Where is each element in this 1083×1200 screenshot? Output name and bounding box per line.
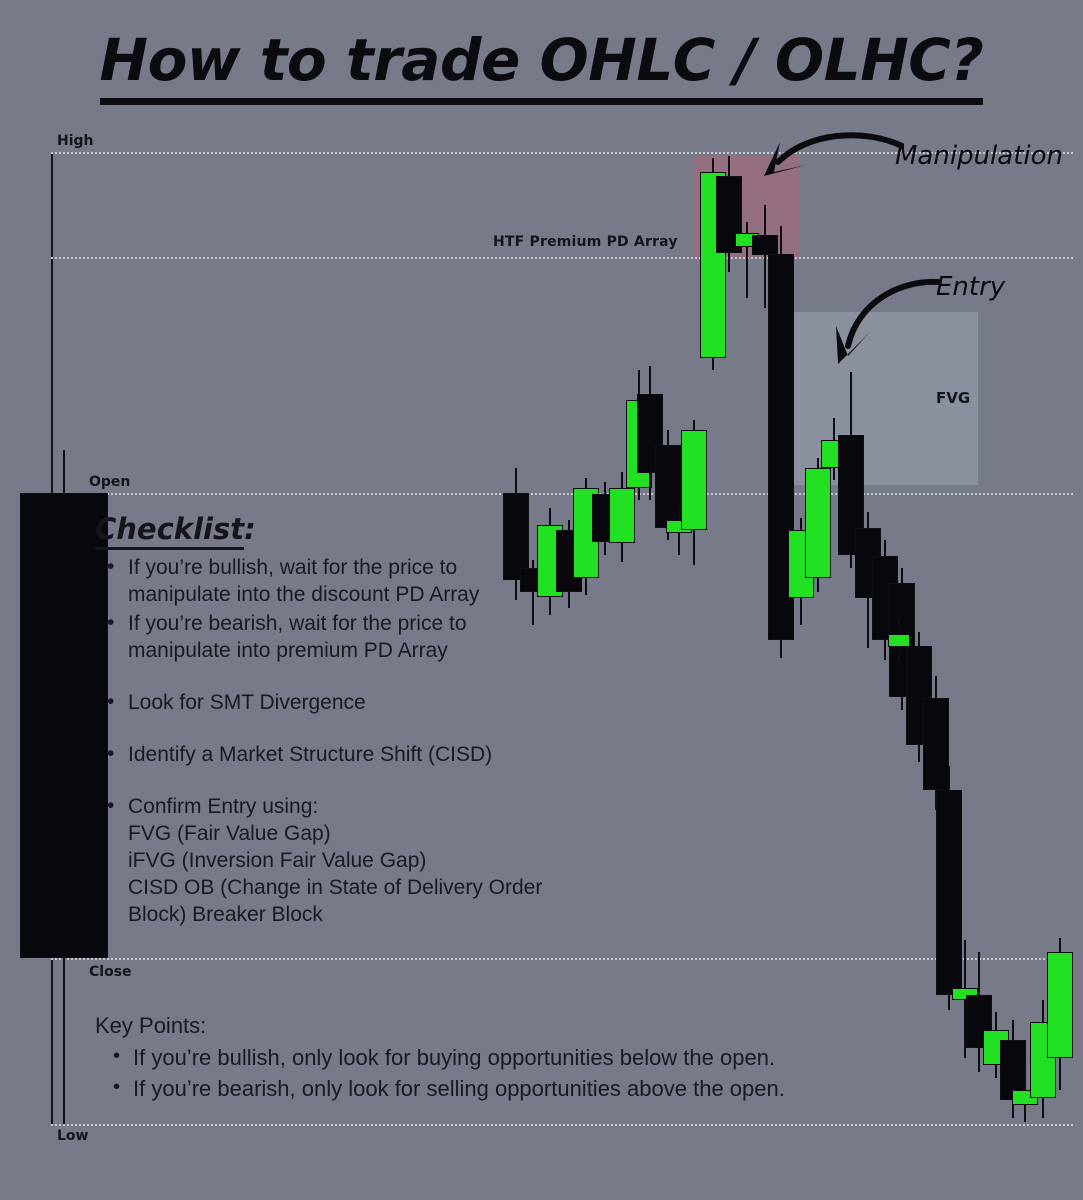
checklist-title: Checklist: (95, 512, 565, 546)
confirm-entry-line: CISD OB (Change in State of Delivery Ord… (128, 874, 565, 928)
checklist-item: If you’re bullish, wait for the price to… (95, 554, 565, 608)
key-points-items: If you’re bullish, only look for buying … (95, 1042, 925, 1104)
infographic-root: How to trade OHLC / OLHC? High Open Clos… (0, 0, 1083, 1200)
candle-body (805, 468, 831, 578)
candle-body (936, 790, 962, 995)
axis-label-low: Low (57, 1128, 88, 1144)
checklist-item-confirm-entry: Confirm Entry using: FVG (Fair Value Gap… (95, 793, 565, 928)
checklist-panel: Checklist: If you’re bullish, wait for t… (95, 512, 565, 930)
axis-label-open: Open (89, 474, 130, 490)
confirm-entry-line: iFVG (Inversion Fair Value Gap) (128, 847, 565, 874)
candle-body (681, 430, 707, 530)
candle-body (752, 235, 778, 255)
entry-label: Entry (936, 272, 1005, 302)
checklist-items: If you’re bullish, wait for the price to… (95, 554, 565, 928)
key-points-item: If you’re bullish, only look for buying … (95, 1042, 925, 1073)
candle-body (609, 488, 635, 543)
checklist-item: Identify a Market Structure Shift (CISD) (95, 741, 565, 768)
gridline-low (51, 1124, 1073, 1126)
candle-body (1047, 952, 1073, 1058)
confirm-entry-heading: Confirm Entry using: (128, 793, 565, 820)
candle-wick (764, 205, 766, 308)
gridline-htf (51, 257, 1073, 259)
key-points-title: Key Points: (95, 1013, 925, 1039)
checklist-title-colon: : (244, 512, 256, 546)
axis-label-high: High (57, 133, 94, 149)
axis-label-close: Close (89, 964, 132, 980)
confirm-entry-line: FVG (Fair Value Gap) (128, 820, 565, 847)
key-points-item: If you’re bearish, only look for selling… (95, 1073, 925, 1104)
gridline-open (51, 493, 1073, 495)
checklist-title-text: Checklist (95, 512, 244, 550)
candle-body (923, 698, 949, 790)
checklist-item: If you’re bearish, wait for the price to… (95, 610, 565, 664)
manipulation-label: Manipulation (895, 141, 1063, 171)
fvg-label: FVG (936, 389, 970, 407)
htf-premium-label: HTF Premium PD Array (493, 234, 678, 250)
key-points-panel: Key Points: If you’re bullish, only look… (95, 1013, 925, 1104)
gridline-close (51, 958, 1073, 960)
checklist-item: Look for SMT Divergence (95, 689, 565, 716)
